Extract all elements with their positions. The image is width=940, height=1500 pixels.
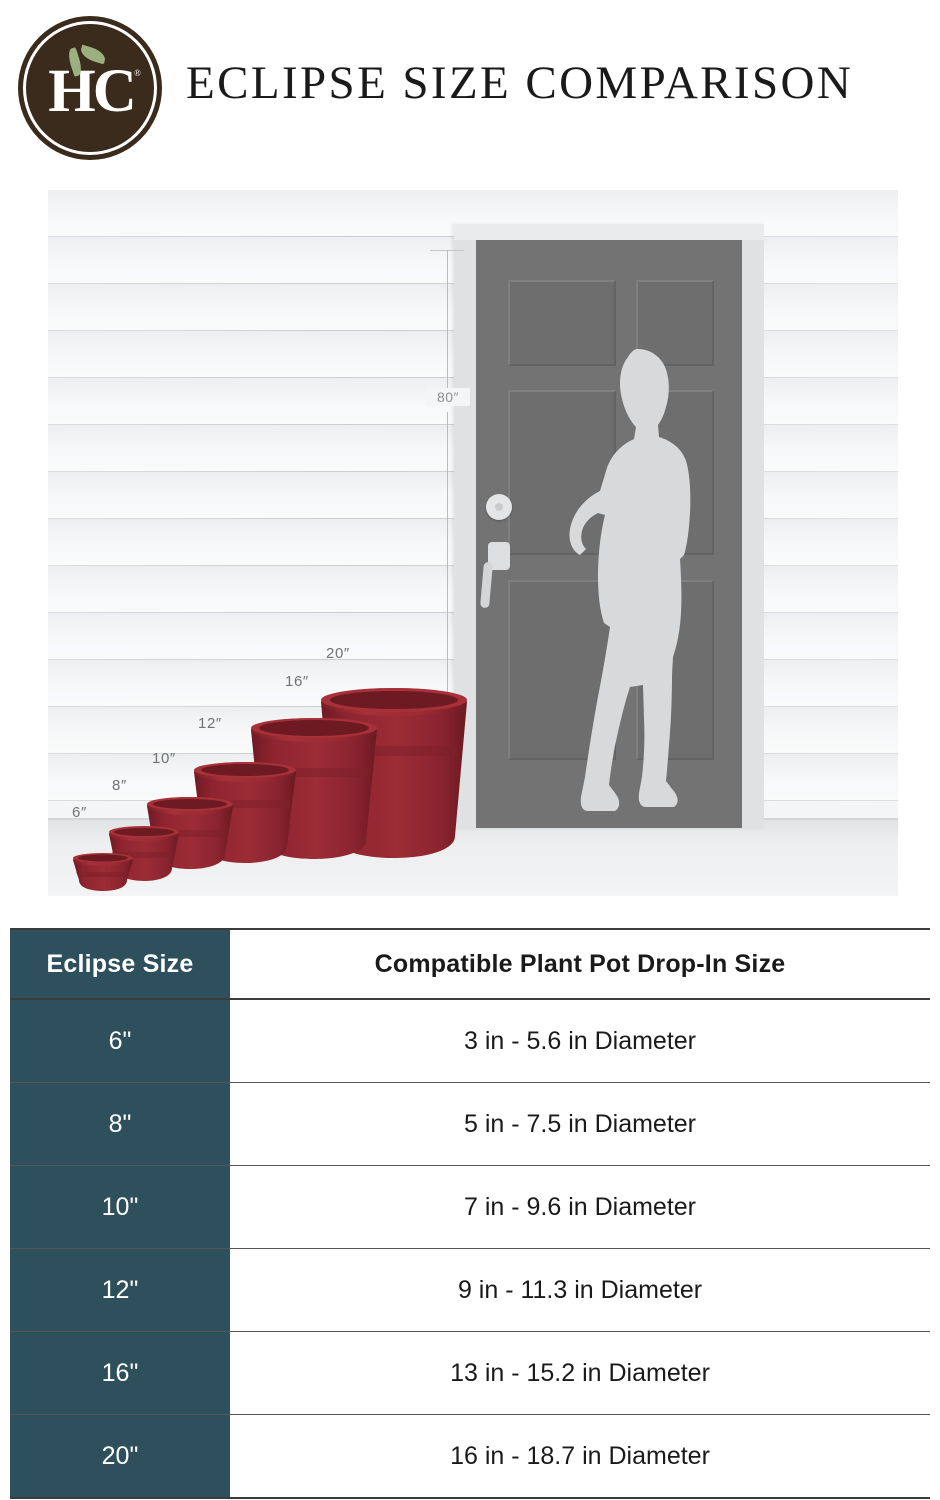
table-row: 12" 9 in - 11.3 in Diameter <box>10 1249 930 1332</box>
cell-eclipse-size: 20" <box>10 1415 230 1497</box>
table-header-row: Eclipse Size Compatible Plant Pot Drop-I… <box>10 930 930 1000</box>
cell-drop-in-size: 5 in - 7.5 in Diameter <box>230 1083 930 1165</box>
pot-label-12in: 12″ <box>198 715 222 732</box>
table-row: 16" 13 in - 15.2 in Diameter <box>10 1332 930 1415</box>
column-header-drop-in-size: Compatible Plant Pot Drop-In Size <box>230 930 930 998</box>
table-row: 10" 7 in - 9.6 in Diameter <box>10 1166 930 1249</box>
page-header: HC ® ECLIPSE SIZE COMPARISON <box>0 0 940 178</box>
pot-label-10in: 10″ <box>152 750 176 767</box>
pot-label-6in: 6″ <box>72 804 87 821</box>
hc-brand-logo: HC ® <box>14 12 166 164</box>
table-row: 8" 5 in - 7.5 in Diameter <box>10 1083 930 1166</box>
planter-pot-group: 6″ 8″ 10″ 12″ 16″ 20″ <box>48 190 898 896</box>
column-header-eclipse-size: Eclipse Size <box>10 930 230 998</box>
pot-6in <box>73 853 133 891</box>
table-row: 20" 16 in - 18.7 in Diameter <box>10 1415 930 1497</box>
table-row: 6" 3 in - 5.6 in Diameter <box>10 1000 930 1083</box>
cell-drop-in-size: 7 in - 9.6 in Diameter <box>230 1166 930 1248</box>
registered-trademark-icon: ® <box>134 68 141 78</box>
pot-label-16in: 16″ <box>285 673 309 690</box>
cell-drop-in-size: 16 in - 18.7 in Diameter <box>230 1415 930 1497</box>
cell-drop-in-size: 13 in - 15.2 in Diameter <box>230 1332 930 1414</box>
size-comparison-photo: 80″ <box>48 190 898 896</box>
logo-monogram: HC <box>14 12 166 164</box>
cell-eclipse-size: 10" <box>10 1166 230 1248</box>
pot-label-8in: 8″ <box>112 777 127 794</box>
pot-label-20in: 20″ <box>326 645 350 662</box>
cell-eclipse-size: 6" <box>10 1000 230 1082</box>
cell-eclipse-size: 8" <box>10 1083 230 1165</box>
page-title: ECLIPSE SIZE COMPARISON <box>186 56 926 110</box>
cell-eclipse-size: 12" <box>10 1249 230 1331</box>
cell-drop-in-size: 9 in - 11.3 in Diameter <box>230 1249 930 1331</box>
size-compatibility-table: Eclipse Size Compatible Plant Pot Drop-I… <box>10 928 930 1499</box>
cell-eclipse-size: 16" <box>10 1332 230 1414</box>
cell-drop-in-size: 3 in - 5.6 in Diameter <box>230 1000 930 1082</box>
